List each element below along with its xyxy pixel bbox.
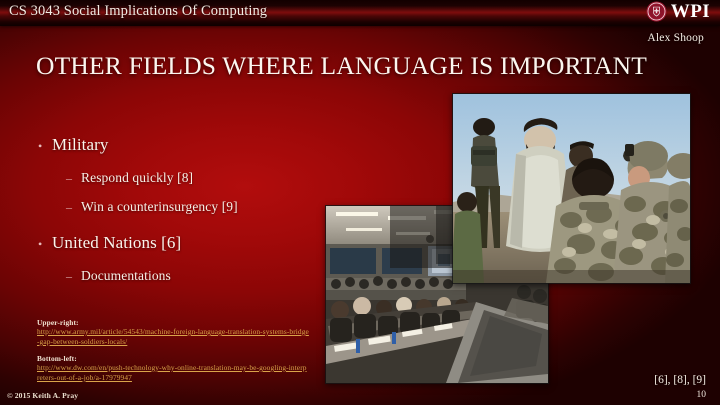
wpi-seal-icon [646,1,667,22]
bullet-label: United Nations [6] [52,233,181,253]
sub-bullet-counterinsurgency: – Win a counterinsurgency [9] [38,199,338,215]
bullet-marker-icon: • [38,140,52,152]
sub-bullet-label: Documentations [81,268,171,284]
source-link-bottom-left[interactable]: http://www.dw.com/en/push-technology-why… [37,363,309,383]
dash-marker-icon: – [66,270,81,282]
wpi-logo-text: WPI [671,1,710,22]
sub-bullet-documentations: – Documentations [38,268,338,284]
bullet-item-military: • Military [38,135,338,155]
slide-title: OTHER FIELDS WHERE LANGUAGE IS IMPORTANT [36,51,676,81]
presenter-name: Alex Shoop [647,32,704,44]
slide-header-bar: CS 3043 Social Implications Of Computing… [0,0,720,26]
bullet-item-united-nations: • United Nations [6] [38,233,338,253]
source-citations: Upper-right: http://www.army.mil/article… [37,318,309,383]
sub-bullet-label: Respond quickly [8] [81,170,193,186]
sub-bullet-respond-quickly: – Respond quickly [8] [38,170,338,186]
slide-number: 10 [697,390,707,400]
wpi-logo: WPI [646,1,710,22]
presentation-slide: CS 3043 Social Implications Of Computing… [0,0,720,405]
source-heading-bottom-left: Bottom-left: [37,354,309,363]
slide-body: • Military – Respond quickly [8] – Win a… [38,135,338,286]
bullet-label: Military [52,135,109,155]
photo-military [452,93,691,284]
bullet-marker-icon: • [38,238,52,250]
dash-marker-icon: – [66,201,81,213]
sub-bullet-label: Win a counterinsurgency [9] [81,199,238,215]
course-title: CS 3043 Social Implications Of Computing [9,3,267,20]
reference-citations: [6], [8], [9] [654,374,706,386]
source-heading-upper-right: Upper-right: [37,318,309,327]
dash-marker-icon: – [66,172,81,184]
copyright-notice: © 2015 Keith A. Pray [7,391,78,400]
source-link-upper-right[interactable]: http://www.army.mil/article/54543/machin… [37,327,309,347]
